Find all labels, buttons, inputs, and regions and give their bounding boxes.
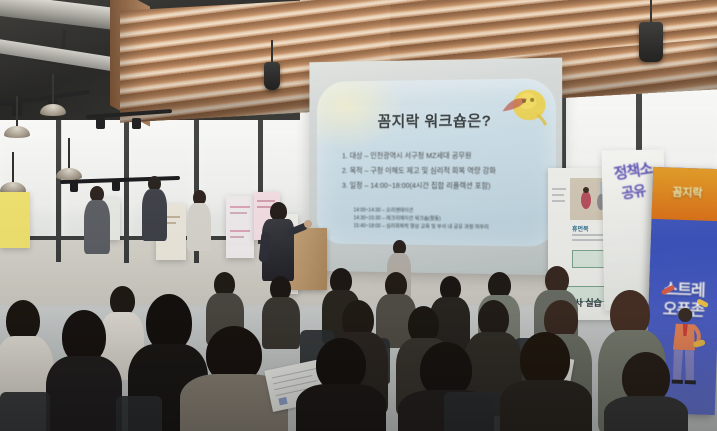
chair (116, 396, 162, 431)
person-body (84, 200, 110, 254)
banner-top-badge-area: 꼼지락 (651, 167, 717, 221)
poster-line (230, 236, 244, 238)
presenter-hand (304, 220, 312, 228)
track-light-head (70, 182, 78, 192)
slide-item-list: 1. 대상 – 인천광역시 서구청 MZ세대 공무원 2. 목적 – 구청 이해… (342, 152, 544, 198)
attendee-standing (140, 176, 170, 244)
projection-screen: 꼼지락 워크숍은? 1. 대상 – 인천광역시 서구청 MZ세대 공무원 2. … (309, 58, 562, 276)
chair (0, 392, 50, 431)
slide-schedule-item: 15:40~18:00 – 심리회복력 향상 교육 및 부서 내 공유 과정 마… (354, 223, 546, 233)
ceiling-speaker-icon (264, 62, 280, 90)
person-body (187, 203, 211, 251)
poster-line (552, 194, 564, 196)
person-body (46, 356, 122, 431)
person-body (500, 380, 592, 431)
pendant-lamp-icon (40, 104, 66, 116)
pendant-lamp-icon (4, 126, 30, 138)
poster-left-stand (0, 192, 30, 248)
slide-schedule-list: 14:00~14:30 – 오리엔테이션 14:30~15:30 – 레크리에이… (354, 207, 546, 232)
poster-line (552, 188, 566, 190)
slide-item: 1. 대상 – 인천광역시 서구청 MZ세대 공무원 (342, 152, 544, 160)
audience-member (604, 352, 688, 431)
poster-line (230, 212, 247, 214)
poster-line (230, 206, 250, 208)
person-body (604, 396, 688, 431)
track-light-head (132, 118, 141, 129)
photo-scene: 꼼지락 워크숍은? 1. 대상 – 인천광역시 서구청 MZ세대 공무원 2. … (0, 0, 717, 431)
slide-item: 2. 목적 – 구청 이해도 제고 및 심리적 회복 역량 강화 (342, 167, 544, 175)
handout-mark (278, 397, 287, 406)
banner-badge-text: 꼼지락 (652, 183, 717, 201)
presentation-slide: 꼼지락 워크숍은? 1. 대상 – 인천광역시 서구청 MZ세대 공무원 2. … (317, 78, 556, 247)
person-body (142, 189, 167, 241)
slide-title: 꼼지락 워크숍은? (317, 109, 556, 132)
audience-member (500, 332, 592, 431)
poster-center-stand (226, 196, 254, 258)
poster-title: 휴먼북 (572, 224, 589, 233)
audience-member (46, 310, 122, 431)
person-body (296, 384, 386, 431)
attendee-standing (82, 186, 112, 256)
track-light-head (112, 181, 120, 191)
poster-line (230, 230, 250, 232)
poster-line (552, 200, 565, 202)
attendee-standing (186, 190, 214, 252)
ceiling-speaker-icon (639, 22, 663, 62)
chair (444, 392, 500, 431)
track-light-head (96, 118, 105, 129)
slide-item: 3. 일정 – 14:00~18:00(4시간 집합 리플렉션 포함) (342, 182, 544, 191)
audience-member (296, 338, 386, 431)
pendant-lamp-icon (56, 168, 82, 180)
